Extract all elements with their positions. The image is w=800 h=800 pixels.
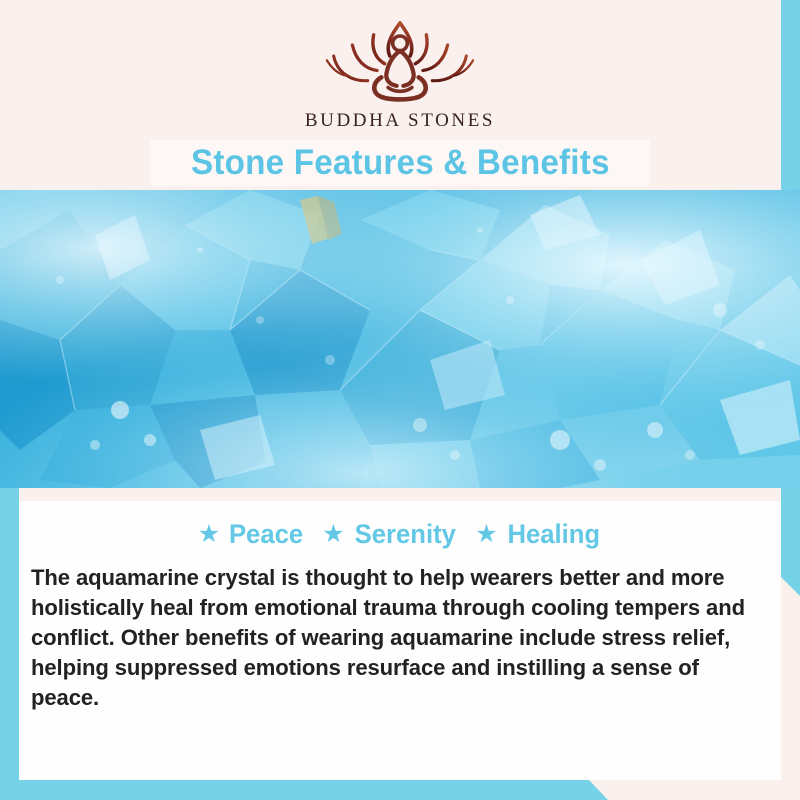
benefit-keyword-serenity: Serenity [354,519,455,550]
brand-logo: BUDDHA STONES [19,16,781,132]
star-icon: ★ [198,522,220,547]
infographic-page: BUDDHA STONES Stone Features & Benefits [0,0,800,800]
benefit-description: The aquamarine crystal is thought to hel… [31,563,762,713]
brand-name: BUDDHA STONES [305,110,495,132]
decorative-border-bottom [0,780,608,800]
benefits-section: ★ Peace ★ Serenity ★ Healing The aquamar… [19,488,781,780]
benefit-keyword-healing: Healing [507,519,600,550]
title-plate: Stone Features & Benefits [150,140,650,186]
benefits-panel: ★ Peace ★ Serenity ★ Healing The aquamar… [19,501,781,780]
benefit-keyword-list: ★ Peace ★ Serenity ★ Healing [19,519,781,550]
list-item: ★ Peace [198,519,306,550]
hero-image: Aquamarine [0,190,800,488]
list-item: ★ Serenity [322,519,458,550]
benefit-keyword-peace: Peace [229,519,303,550]
lotus-meditation-figure-icon [315,16,485,108]
star-icon: ★ [322,522,344,547]
star-icon: ★ [475,522,497,547]
aquamarine-crystal-photo [0,190,800,488]
page-title: Stone Features & Benefits [191,143,610,183]
header-section: BUDDHA STONES Stone Features & Benefits [19,0,781,190]
list-item: ★ Healing [475,519,602,550]
content-card: BUDDHA STONES Stone Features & Benefits [19,0,781,780]
